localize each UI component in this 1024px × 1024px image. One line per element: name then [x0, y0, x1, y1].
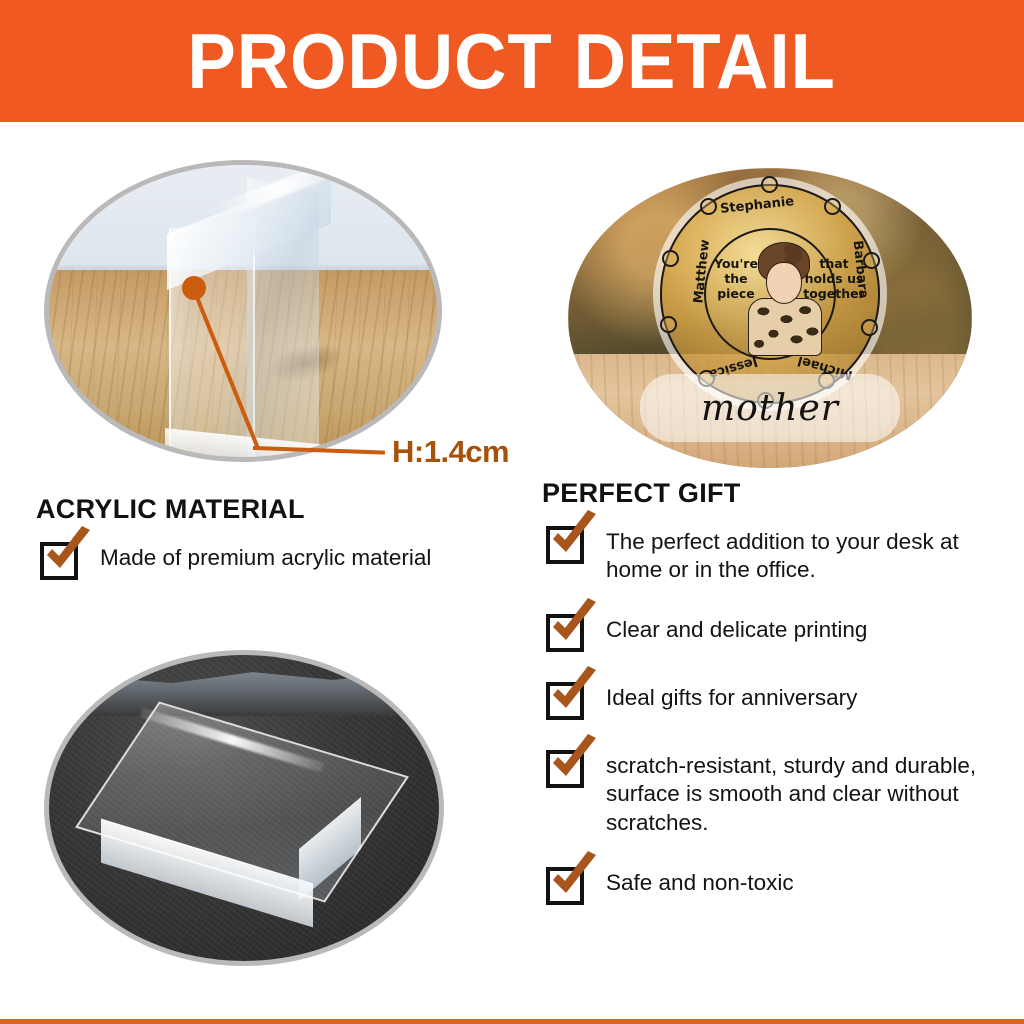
feature-list-perfect-gift: The perfect addition to your desk at hom…	[546, 522, 1008, 931]
checkmark-icon[interactable]	[40, 542, 78, 580]
feature-item: Ideal gifts for anniversary	[546, 678, 1008, 720]
center-left-line-1: You're	[714, 256, 758, 271]
page-title: PRODUCT DETAIL	[188, 22, 836, 100]
slate-edge	[44, 661, 444, 716]
puzzle-nub	[824, 198, 841, 215]
heading-perfect-gift: PERFECT GIFT	[542, 478, 741, 509]
center-right-line-2: holds us	[805, 271, 864, 286]
feature-list-acrylic-material: Made of premium acrylic material	[40, 538, 510, 604]
thickness-label: H:1.4cm	[392, 434, 509, 470]
plaque-base-word: mother	[646, 380, 894, 436]
checkmark-icon[interactable]	[546, 614, 584, 652]
feature-text: scratch-resistant, sturdy and durable, s…	[606, 746, 1008, 836]
plaque-center-text-left: You're the piece	[710, 256, 762, 301]
feature-text: Clear and delicate printing	[606, 610, 867, 644]
photo-personalized-plaque: Stephanie Barbara Michael Jessica Matthe…	[568, 168, 972, 468]
center-left-line-3: piece	[717, 286, 755, 301]
header-bar: PRODUCT DETAIL	[0, 0, 1024, 122]
checkmark-icon[interactable]	[546, 867, 584, 905]
puzzle-nub	[861, 319, 878, 336]
center-right-line-1: that	[819, 256, 848, 271]
checkmark-icon[interactable]	[546, 682, 584, 720]
plaque-base: mother	[646, 380, 894, 436]
feature-text: Safe and non-toxic	[606, 863, 794, 897]
avatar-body	[748, 298, 822, 356]
avatar-face	[766, 262, 802, 304]
puzzle-nub	[660, 316, 677, 333]
heading-acrylic-material: ACRYLIC MATERIAL	[36, 494, 305, 525]
photo-acrylic-block	[44, 650, 444, 966]
checkmark-icon[interactable]	[546, 750, 584, 788]
footer-accent-strip	[0, 1019, 1024, 1024]
feature-text: The perfect addition to your desk at hom…	[606, 522, 1008, 584]
feature-item: Clear and delicate printing	[546, 610, 1008, 652]
puzzle-nub	[700, 198, 717, 215]
feature-text: Ideal gifts for anniversary	[606, 678, 857, 712]
puzzle-nub	[761, 176, 778, 193]
plaque-center-text-right: that holds us together	[802, 256, 866, 301]
acrylic-plaque: Stephanie Barbara Michael Jessica Matthe…	[646, 184, 894, 434]
feature-item: Made of premium acrylic material	[40, 538, 510, 580]
feature-item: scratch-resistant, sturdy and durable, s…	[546, 746, 1008, 836]
feature-text: Made of premium acrylic material	[100, 538, 431, 572]
feature-item: The perfect addition to your desk at hom…	[546, 522, 1008, 584]
puzzle-nub	[662, 250, 679, 267]
checkmark-icon[interactable]	[546, 526, 584, 564]
feature-item: Safe and non-toxic	[546, 863, 1008, 905]
center-left-line-2: the	[724, 271, 747, 286]
puzzle-disc: Stephanie Barbara Michael Jessica Matthe…	[660, 184, 880, 404]
